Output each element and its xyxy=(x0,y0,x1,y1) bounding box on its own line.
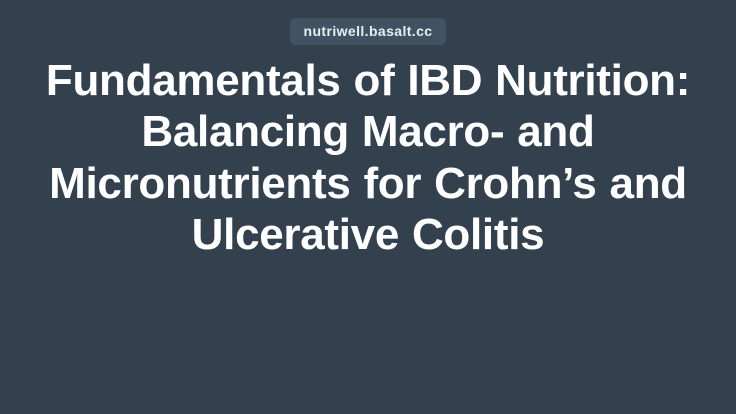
site-domain-badge: nutriwell.basalt.cc xyxy=(290,18,447,45)
title-slide: nutriwell.basalt.cc Fundamentals of IBD … xyxy=(0,0,736,414)
page-title: Fundamentals of IBD Nutrition: Balancing… xyxy=(38,55,698,261)
